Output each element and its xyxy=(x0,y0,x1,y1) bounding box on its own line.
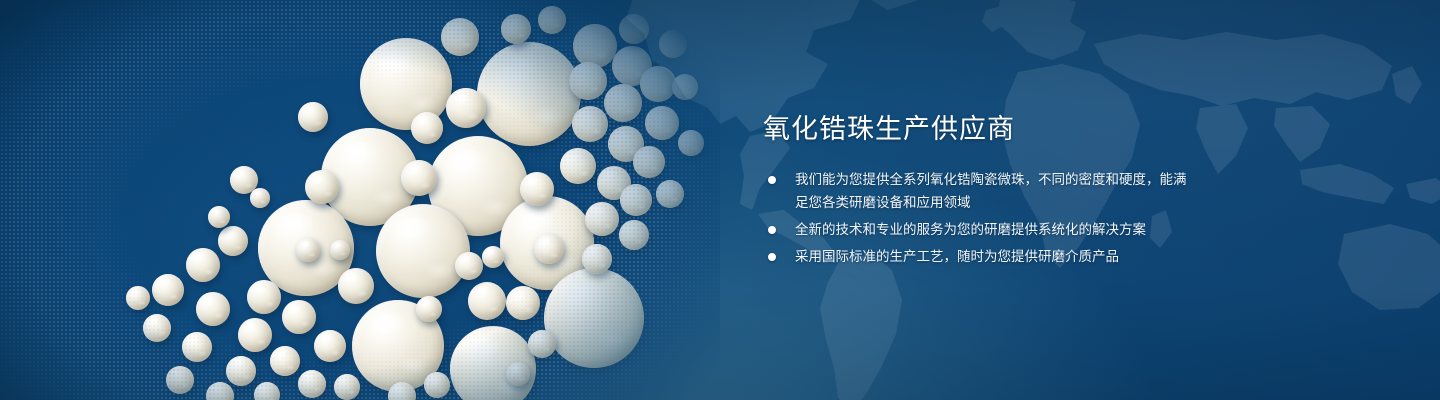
bead xyxy=(585,202,619,236)
bead xyxy=(446,88,486,128)
bead xyxy=(604,84,642,122)
bead xyxy=(506,286,540,320)
bead xyxy=(506,362,530,386)
bead xyxy=(338,268,374,304)
bead xyxy=(528,330,556,358)
bead xyxy=(441,18,479,56)
bead-cluster xyxy=(0,0,720,400)
bead xyxy=(620,184,652,216)
bead xyxy=(166,366,194,394)
bead xyxy=(619,220,649,250)
bead xyxy=(477,42,581,146)
bead xyxy=(250,188,270,208)
bead xyxy=(314,330,346,362)
bead xyxy=(633,146,665,178)
bead xyxy=(659,30,687,58)
bead xyxy=(424,372,450,398)
bead xyxy=(143,314,171,342)
bead xyxy=(544,268,644,368)
banner-copy: 氧化锆珠生产供应商 我们能为您提供全系列氧化锆陶瓷微珠，不同的密度和硬度，能满足… xyxy=(763,0,1233,400)
bead xyxy=(573,24,617,68)
bead xyxy=(569,62,607,100)
bead xyxy=(619,14,649,44)
bead xyxy=(560,148,596,184)
bead xyxy=(656,180,684,208)
page-title: 氧化锆珠生产供应商 xyxy=(763,112,1015,146)
zirconia-beads-photo xyxy=(0,0,720,400)
bead xyxy=(296,238,320,262)
bead xyxy=(520,172,554,206)
bead xyxy=(482,246,504,268)
bead xyxy=(376,204,470,298)
bead xyxy=(468,282,506,320)
bead xyxy=(298,370,326,398)
bead xyxy=(182,332,212,362)
bead xyxy=(672,74,698,100)
bead xyxy=(218,226,248,256)
bead xyxy=(401,160,437,196)
bead xyxy=(186,248,220,282)
list-item-label: 全新的技术和专业的服务为您的研磨提供系统化的解决方案 xyxy=(795,222,1146,237)
bead xyxy=(305,170,339,204)
bead xyxy=(582,244,612,274)
bead xyxy=(126,286,150,310)
bead xyxy=(572,106,608,142)
list-item: 我们能为您提供全系列氧化锆陶瓷微珠，不同的密度和硬度，能满足您各类研磨设备和应用… xyxy=(768,168,1198,214)
bead xyxy=(645,106,679,140)
list-item: 全新的技术和专业的服务为您的研磨提供系统化的解决方案 xyxy=(768,218,1198,241)
bead xyxy=(416,296,442,322)
bead xyxy=(270,346,300,376)
bead xyxy=(534,234,564,264)
bead xyxy=(640,66,676,102)
bead xyxy=(226,356,256,386)
bead xyxy=(238,318,272,352)
bullet-dot-icon xyxy=(768,226,776,234)
bullet-dot-icon xyxy=(768,253,776,261)
bead xyxy=(254,382,280,400)
bead xyxy=(208,206,230,228)
list-item: 采用国际标准的生产工艺，随时为您提供研磨介质产品 xyxy=(768,245,1198,268)
bead xyxy=(411,112,443,144)
bead xyxy=(678,130,704,156)
bead xyxy=(206,382,234,400)
bead xyxy=(501,14,531,44)
bullet-dot-icon xyxy=(768,176,776,184)
list-item-label: 我们能为您提供全系列氧化锆陶瓷微珠，不同的密度和硬度，能满足您各类研磨设备和应用… xyxy=(795,172,1187,210)
list-item-label: 采用国际标准的生产工艺，随时为您提供研磨介质产品 xyxy=(795,249,1119,264)
hero-banner: 氧化锆珠生产供应商 我们能为您提供全系列氧化锆陶瓷微珠，不同的密度和硬度，能满足… xyxy=(0,0,1440,400)
bead xyxy=(334,374,360,400)
bead xyxy=(455,252,483,280)
bead xyxy=(282,300,316,334)
bead xyxy=(196,292,230,326)
feature-list: 我们能为您提供全系列氧化锆陶瓷微珠，不同的密度和硬度，能满足您各类研磨设备和应用… xyxy=(768,168,1198,272)
bead xyxy=(247,280,281,314)
photo-backdrop xyxy=(0,0,720,400)
bead xyxy=(152,274,184,306)
bead xyxy=(298,102,328,132)
bead xyxy=(538,6,566,34)
bead xyxy=(330,240,350,260)
